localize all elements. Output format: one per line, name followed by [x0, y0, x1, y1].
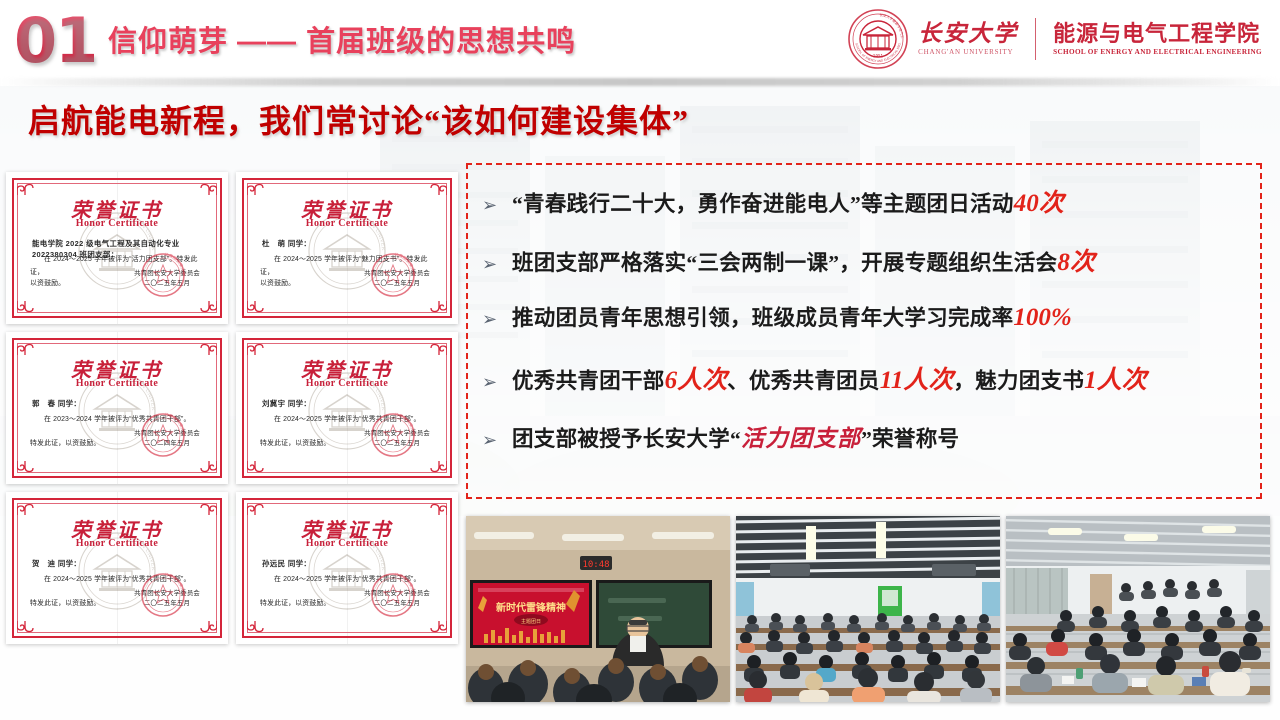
list-item-text-segment: 班团支部严格落实“三会两制一课”，开展专题组织生活会: [512, 251, 1057, 275]
list-item-highlight-value: 6人次: [665, 367, 728, 394]
list-item-text: 团支部被授予长安大学“活力团支部”荣誉称号: [512, 419, 959, 453]
section-number: 01: [14, 4, 96, 77]
certificate-recipient: 贺 迪 同学：: [32, 558, 81, 569]
certificate-corner-ornament-icon: [200, 460, 217, 473]
list-item-text-segment: 优秀共青团干部: [512, 369, 665, 393]
bullet-arrow-icon: ➢: [482, 197, 512, 215]
header-divider: [0, 78, 1280, 86]
certificate-card[interactable]: CHANG AN UNIVERSITY荣誉证书Honor Certificate…: [6, 332, 228, 484]
certificate-title-en: Honor Certificate: [14, 378, 220, 389]
list-item: ➢“青春践行二十大，勇作奋进能电人”等主题团日活动40次: [482, 183, 1246, 242]
university-seal-icon: 1951 长安大学能源与电气工程学院 SCHOOL OF ENERGY AND …: [847, 8, 909, 70]
official-red-stamp-icon: 共青团长安大学委员会: [370, 412, 416, 458]
certificate-title-en: Honor Certificate: [14, 538, 220, 549]
list-item: ➢推动团员青年思想引领，班级成员青年大学习完成率100%: [482, 301, 1246, 360]
list-item-text-segment: 团支部被授予长安大学“: [512, 427, 741, 451]
certificate-recipient: 杜 萌 同学：: [262, 238, 311, 249]
certificate-corner-ornament-icon: [430, 620, 447, 633]
university-name-cn: 长安大学: [918, 22, 1018, 46]
certificate-border: CHANG AN UNIVERSITY荣誉证书Honor Certificate…: [242, 498, 452, 638]
list-item-text-segment: “青春践行二十大，勇作奋进能电人”等主题团日活动: [512, 192, 1014, 216]
certificate-recipient: 郭 春 同学：: [32, 398, 81, 409]
svg-text:新时代雷锋精神: 新时代雷锋精神: [496, 601, 566, 614]
certificate-corner-ornament-icon: [17, 620, 34, 633]
certificate-corner-ornament-icon: [247, 620, 264, 633]
slide-root: 01 信仰萌芽 —— 首届班级的思想共鸣 1951: [0, 0, 1280, 720]
certificate-border: CHANG AN UNIVERSITY荣誉证书Honor Certificate…: [12, 178, 222, 318]
list-item-highlight-value: 11人次: [880, 367, 954, 394]
official-red-stamp-icon: 共青团长安大学委员会: [140, 412, 186, 458]
highlights-panel: ➢“青春践行二十大，勇作奋进能电人”等主题团日活动40次➢班团支部严格落实“三会…: [466, 163, 1262, 499]
list-item-highlight-value: 40次: [1014, 190, 1064, 217]
official-red-stamp-icon: 共青团长安大学委员会: [140, 572, 186, 618]
school-name-en: SCHOOL OF ENERGY AND ELECTRICAL ENGINEER…: [1053, 48, 1262, 56]
list-item-text: 班团支部严格落实“三会两制一课”，开展专题组织生活会8次: [512, 242, 1095, 278]
list-item-highlight-value: 活力团支部: [741, 426, 861, 451]
svg-text:1951: 1951: [873, 54, 884, 59]
logo-divider: [1035, 18, 1036, 60]
bullet-arrow-icon: ➢: [482, 311, 512, 329]
slide-header: 01 信仰萌芽 —— 首届班级的思想共鸣 1951: [0, 0, 1280, 86]
university-name-block: 长安大学 CHANG'AN UNIVERSITY: [918, 22, 1018, 56]
certificate-corner-ornament-icon: [200, 620, 217, 633]
certificate-corner-ornament-icon: [247, 460, 264, 473]
lecture-hall-study-photo[interactable]: [1006, 516, 1270, 702]
list-item-text: 推动团员青年思想引领，班级成员青年大学习完成率100%: [512, 301, 1072, 332]
bullet-arrow-icon: ➢: [482, 432, 512, 450]
svg-text:主题团日: 主题团日: [521, 618, 541, 625]
official-red-stamp-icon: 共青团长安大学委员会: [370, 572, 416, 618]
school-name-cn: 能源与电气工程学院: [1053, 22, 1262, 46]
certificate-card[interactable]: CHANG AN UNIVERSITY荣誉证书Honor Certificate…: [6, 492, 228, 644]
list-item-highlight-value: 1人次: [1084, 367, 1147, 394]
photo-gallery: 10:48 新时代雷锋精神 主题团日: [466, 516, 1272, 706]
certificate-corner-ornament-icon: [17, 460, 34, 473]
certificate-corner-ornament-icon: [247, 300, 264, 313]
list-item-text-segment: ，魅力团支书: [953, 369, 1084, 393]
certificate-corner-ornament-icon: [430, 300, 447, 313]
page-title: 启航能电新程，我们常讨论“该如何建设集体”: [28, 96, 689, 142]
lecture-hall-students-photo[interactable]: [736, 516, 1000, 702]
official-red-stamp-icon: 共青团长安大学委员会: [140, 252, 186, 298]
school-name-block: 能源与电气工程学院 SCHOOL OF ENERGY AND ELECTRICA…: [1053, 22, 1262, 56]
certificate-border: CHANG AN UNIVERSITY荣誉证书Honor Certificate…: [12, 338, 222, 478]
list-item: ➢班团支部严格落实“三会两制一课”，开展专题组织生活会8次: [482, 242, 1246, 301]
certificate-card[interactable]: CHANG AN UNIVERSITY荣誉证书Honor Certificate…: [6, 172, 228, 324]
certificate-corner-ornament-icon: [430, 460, 447, 473]
list-item: ➢团支部被授予长安大学“活力团支部”荣誉称号: [482, 419, 1246, 478]
certificate-corner-ornament-icon: [200, 300, 217, 313]
certificate-title-en: Honor Certificate: [14, 218, 220, 229]
certificate-corner-ornament-icon: [17, 300, 34, 313]
list-item-text-segment: 推动团员青年思想引领，班级成员青年大学习完成率: [512, 306, 1013, 330]
official-red-stamp-icon: 共青团长安大学委员会: [370, 252, 416, 298]
certificate-title-en: Honor Certificate: [244, 378, 450, 389]
list-item-text-segment: 、优秀共青团员: [727, 369, 880, 393]
certificate-title-en: Honor Certificate: [244, 218, 450, 229]
section-title: 信仰萌芽 —— 首届班级的思想共鸣: [108, 18, 576, 60]
list-item-highlight-value: 100%: [1013, 304, 1071, 331]
certificate-border: CHANG AN UNIVERSITY荣誉证书Honor Certificate…: [242, 178, 452, 318]
svg-text:10:48: 10:48: [582, 560, 609, 570]
certificate-card[interactable]: CHANG AN UNIVERSITY荣誉证书Honor Certificate…: [236, 492, 458, 644]
certificate-title-en: Honor Certificate: [244, 538, 450, 549]
certificate-border: CHANG AN UNIVERSITY荣誉证书Honor Certificate…: [12, 498, 222, 638]
certificate-recipient: 刘冀宇 同学：: [262, 398, 311, 409]
list-item: ➢优秀共青团干部6人次、优秀共青团员11人次，魅力团支书1人次: [482, 360, 1246, 419]
list-item-text: “青春践行二十大，勇作奋进能电人”等主题团日活动40次: [512, 183, 1064, 219]
list-item-text-segment: ”荣誉称号: [861, 427, 959, 451]
certificate-recipient: 孙远民 同学：: [262, 558, 311, 569]
university-logo: 1951 长安大学能源与电气工程学院 SCHOOL OF ENERGY AND …: [847, 8, 1262, 70]
bullet-arrow-icon: ➢: [482, 374, 512, 392]
certificate-border: CHANG AN UNIVERSITY荣誉证书Honor Certificate…: [242, 338, 452, 478]
classroom-lecture-photo[interactable]: 10:48 新时代雷锋精神 主题团日: [466, 516, 730, 702]
certificate-card[interactable]: CHANG AN UNIVERSITY荣誉证书Honor Certificate…: [236, 332, 458, 484]
list-item-text: 优秀共青团干部6人次、优秀共青团员11人次，魅力团支书1人次: [512, 360, 1147, 396]
university-name-en: CHANG'AN UNIVERSITY: [918, 48, 1018, 56]
bullet-arrow-icon: ➢: [482, 256, 512, 274]
list-item-highlight-value: 8次: [1057, 249, 1095, 276]
certificate-card[interactable]: CHANG AN UNIVERSITY荣誉证书Honor Certificate…: [236, 172, 458, 324]
certificate-gallery: CHANG AN UNIVERSITY荣誉证书Honor Certificate…: [6, 172, 458, 644]
